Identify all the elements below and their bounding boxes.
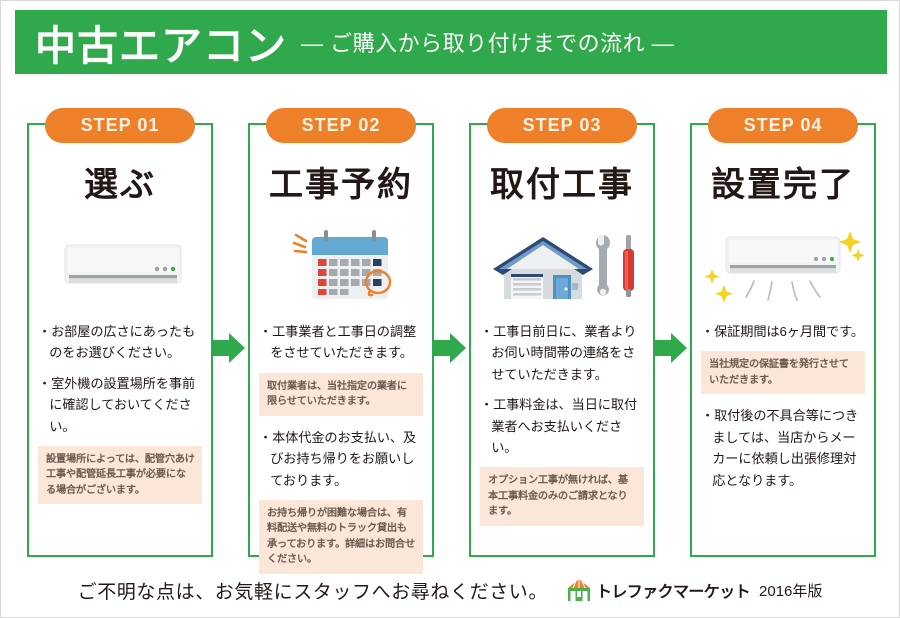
step-title-2: 工事予約 <box>250 157 432 206</box>
step-body-3: ・工事日前日に、業者よりお伺い時間帯の連絡をさせていただきます。 ・工事料金は、… <box>480 321 644 537</box>
note-box: 取付業者は、当社指定の業者に限らせていただきます。 <box>259 373 423 416</box>
step-body-1: ・お部屋の広さにあったものをお選びください。 ・室外機の設置場所を事前に確認して… <box>38 321 202 515</box>
page-header: 中古エアコン ― ご購入から取り付けまでの流れ ― <box>15 10 887 74</box>
step-body-4: ・保証期間は6ヶ月間です。 当社規定の保証書を発行させていただきます。 ・取付後… <box>701 321 865 500</box>
note-box: 設置場所によっては、配管穴あけ工事や配管延長工事が必要になる場合がございます。 <box>38 446 202 505</box>
arrow-right-icon <box>430 331 468 365</box>
page-footer: ご不明な点は、お気軽にスタッフへお尋ねください。 トレファクマーケット 2016… <box>1 567 899 613</box>
step-body-2: ・工事業者と工事日の調整をさせていただきます。 取付業者は、当社指定の業者に限ら… <box>259 321 423 585</box>
step-column-4: STEP 04 設置完了 <box>690 123 876 557</box>
tent-logo-icon <box>566 578 592 602</box>
bullet-item: ・室外機の設置場所を事前に確認しておいてください。 <box>38 373 202 437</box>
step-badge-2: STEP 02 <box>266 108 416 143</box>
step-badge-3: STEP 03 <box>487 108 637 143</box>
edition-label: 2016年版 <box>759 580 822 601</box>
bullet-item: ・取付後の不具合等につきましては、当店からメーカーに依頼し出張修理対応となります… <box>701 405 865 491</box>
bullet-item: ・工事料金は、当日に取付業者へお支払いください。 <box>480 394 644 458</box>
note-box: オプション工事が無ければ、基本工事料金のみのご請求となります。 <box>480 467 644 526</box>
house-tools-icon <box>471 217 653 313</box>
arrow-right-icon <box>651 331 689 365</box>
bullet-item: ・保証期間は6ヶ月間です。 <box>701 321 865 342</box>
calendar-icon <box>250 217 432 313</box>
infographic-page: 中古エアコン ― ご購入から取り付けまでの流れ ― STEP 01 選ぶ ・お部… <box>0 0 900 618</box>
note-box: 当社規定の保証書を発行させていただきます。 <box>701 351 865 394</box>
bullet-item: ・本体代金のお支払い、及びお持ち帰りをお願いしております。 <box>259 427 423 491</box>
step-badge-4: STEP 04 <box>708 108 858 143</box>
step-column-1: STEP 01 選ぶ ・お部屋の広さにあったものをお選びください。 ・室外機の設… <box>27 123 213 557</box>
page-title: 中古エアコン <box>35 12 287 72</box>
step-column-3: STEP 03 取付工事 <box>469 123 655 557</box>
air-conditioner-sparkle-icon <box>692 217 874 313</box>
footer-message: ご不明な点は、お気軽にスタッフへお尋ねください。 <box>78 577 548 604</box>
brand-logo: トレファクマーケット <box>566 578 750 602</box>
brand-name: トレファクマーケット <box>596 578 750 602</box>
bullet-item: ・工事業者と工事日の調整をさせていただきます。 <box>259 321 423 364</box>
bullet-item: ・工事日前日に、業者よりお伺い時間帯の連絡をさせていただきます。 <box>480 321 644 385</box>
air-conditioner-icon <box>29 217 211 313</box>
step-column-2: STEP 02 工事予約 <box>248 123 434 557</box>
step-badge-1: STEP 01 <box>45 108 195 143</box>
step-title-1: 選ぶ <box>29 157 211 206</box>
step-title-3: 取付工事 <box>471 157 653 206</box>
arrow-right-icon <box>209 331 247 365</box>
page-subtitle: ― ご購入から取り付けまでの流れ ― <box>301 26 674 58</box>
bullet-item: ・お部屋の広さにあったものをお選びください。 <box>38 321 202 364</box>
note-box: お持ち帰りが困難な場合は、有料配送や無料のトラック貸出も承っております。詳細はお… <box>259 500 423 574</box>
step-title-4: 設置完了 <box>692 157 874 206</box>
